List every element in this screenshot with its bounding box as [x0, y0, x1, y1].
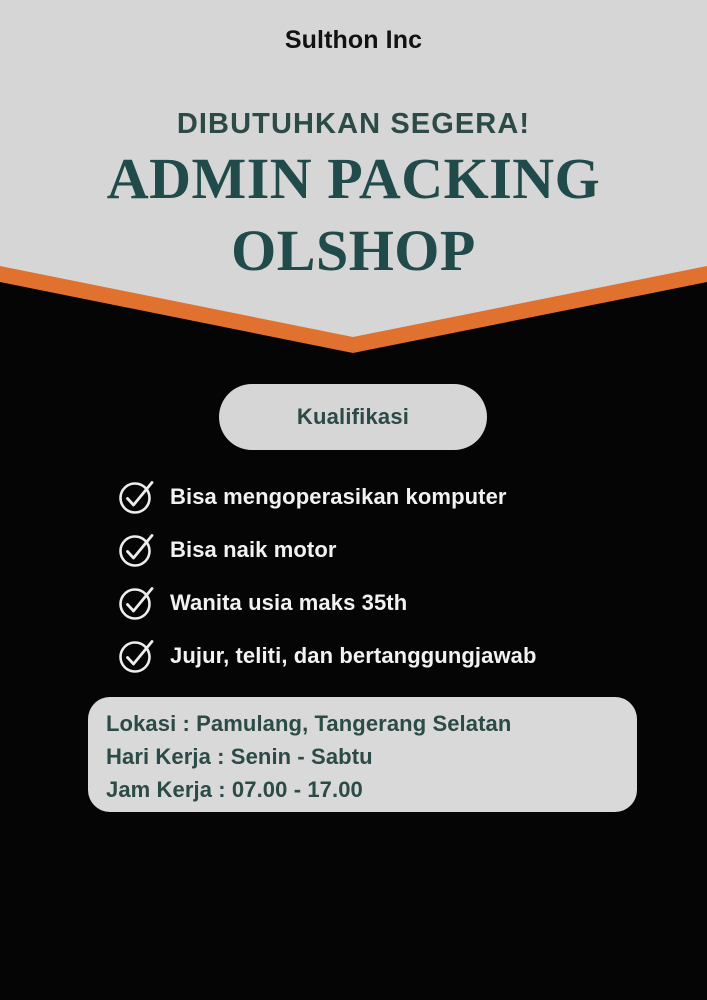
job-poster: Sulthon Inc DIBUTUHKAN SEGERA! ADMIN PAC…	[0, 0, 707, 1000]
list-item-label: Jujur, teliti, dan bertanggungjawab	[170, 643, 537, 669]
check-circle-icon	[118, 532, 154, 568]
list-item-label: Wanita usia maks 35th	[170, 590, 407, 616]
detail-workdays: Hari Kerja : Senin - Sabtu	[106, 740, 637, 773]
job-details-box: Lokasi : Pamulang, Tangerang Selatan Har…	[88, 697, 637, 812]
check-circle-icon	[118, 585, 154, 621]
detail-location: Lokasi : Pamulang, Tangerang Selatan	[106, 707, 637, 740]
urgency-label: DIBUTUHKAN SEGERA!	[0, 108, 707, 141]
detail-workhours: Jam Kerja : 07.00 - 17.00	[106, 773, 637, 806]
list-item-label: Bisa mengoperasikan komputer	[170, 484, 507, 510]
job-title-line-2: OLSHOP	[0, 215, 707, 287]
list-item: Bisa naik motor	[118, 523, 678, 576]
qualifications-section-label: Kualifikasi	[297, 404, 409, 430]
check-circle-icon	[118, 479, 154, 515]
check-circle-icon	[118, 638, 154, 674]
page-title: ADMIN PACKING OLSHOP	[0, 143, 707, 287]
qualifications-list: Bisa mengoperasikan komputer Bisa naik m…	[118, 470, 678, 682]
job-title-line-1: ADMIN PACKING	[0, 143, 707, 215]
qualifications-section-badge: Kualifikasi	[219, 384, 487, 450]
list-item-label: Bisa naik motor	[170, 537, 337, 563]
list-item: Wanita usia maks 35th	[118, 576, 678, 629]
poster-header: Sulthon Inc DIBUTUHKAN SEGERA! ADMIN PAC…	[0, 0, 707, 360]
company-name: Sulthon Inc	[0, 26, 707, 55]
list-item: Bisa mengoperasikan komputer	[118, 470, 678, 523]
list-item: Jujur, teliti, dan bertanggungjawab	[118, 629, 678, 682]
